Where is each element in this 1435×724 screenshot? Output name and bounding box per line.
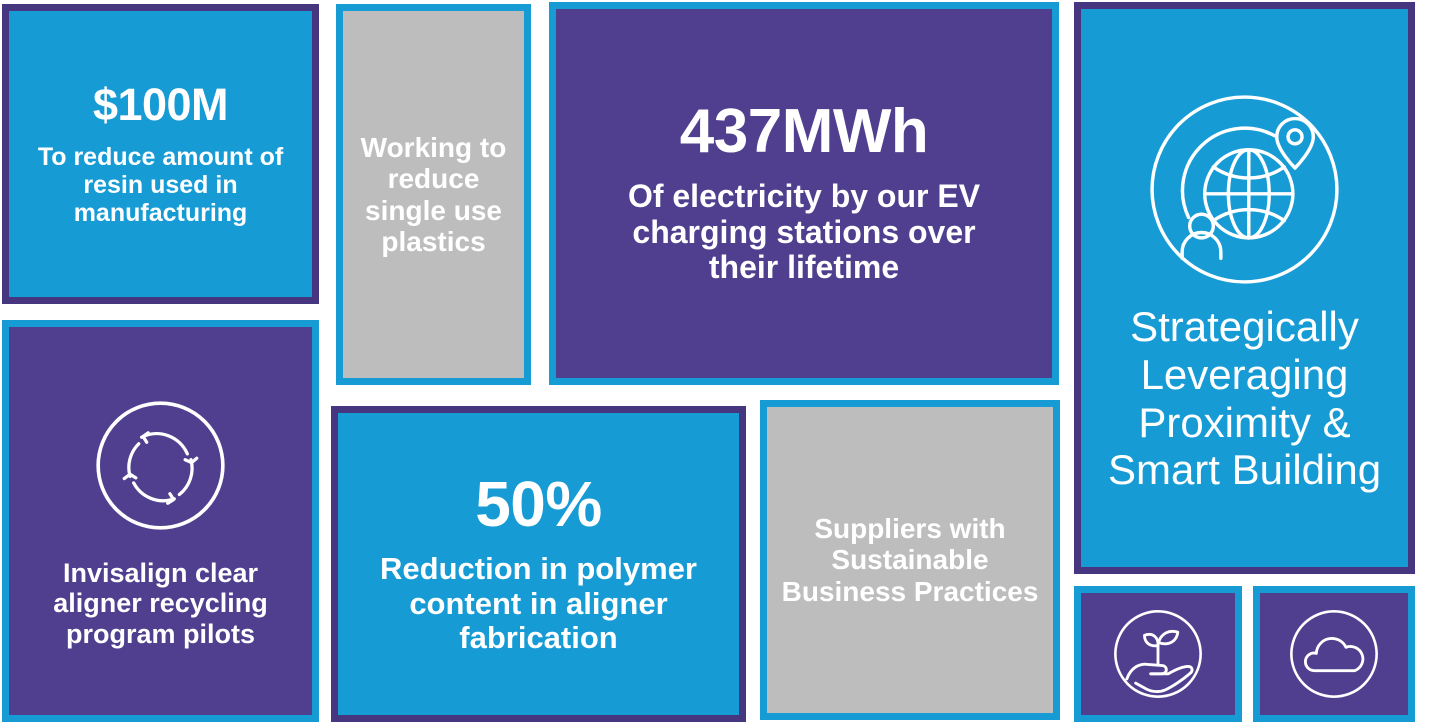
stat-card-aligner-recycling: Invisalign clear aligner recycling progr… [2, 320, 319, 722]
cloud-icon [1282, 602, 1386, 706]
stat-caption-polymer: Reduction in polymer content in aligner … [349, 552, 729, 656]
stat-caption-resin: To reduce amount of resin used in manufa… [36, 143, 286, 227]
icon-card-sustainability [1074, 586, 1242, 722]
globe-location-person-icon [1137, 82, 1352, 297]
stat-caption-proximity: Strategically Leveraging Proximity & Sma… [1095, 303, 1395, 495]
stat-value-polymer: 50% [475, 472, 602, 536]
stat-card-resin-investment: $100M To reduce amount of resin used in … [2, 4, 319, 304]
stat-value-resin: $100M [93, 82, 228, 127]
sustainability-infographic: $100M To reduce amount of resin used in … [0, 0, 1435, 724]
stat-card-proximity-smart-building: Strategically Leveraging Proximity & Sma… [1074, 2, 1415, 574]
stat-card-polymer-reduction: 50% Reduction in polymer content in alig… [331, 406, 746, 722]
recycling-arrows-icon [88, 393, 233, 538]
stat-caption-plastics: Working to reduce single use plastics [359, 132, 509, 257]
icon-card-cloud [1253, 586, 1415, 722]
stat-card-single-use-plastics: Working to reduce single use plastics [336, 4, 531, 385]
stat-caption-recycling: Invisalign clear aligner recycling progr… [18, 558, 303, 649]
hand-holding-sprout-icon [1106, 602, 1210, 706]
stat-card-ev-electricity: 437MWh Of electricity by our EV charging… [549, 2, 1059, 385]
stat-caption-electricity: Of electricity by our EV charging statio… [594, 179, 1014, 286]
stat-card-sustainable-suppliers: Suppliers with Sustainable Business Prac… [760, 400, 1060, 720]
stat-caption-suppliers: Suppliers with Sustainable Business Prac… [780, 513, 1040, 607]
stat-value-electricity: 437MWh [680, 101, 928, 163]
